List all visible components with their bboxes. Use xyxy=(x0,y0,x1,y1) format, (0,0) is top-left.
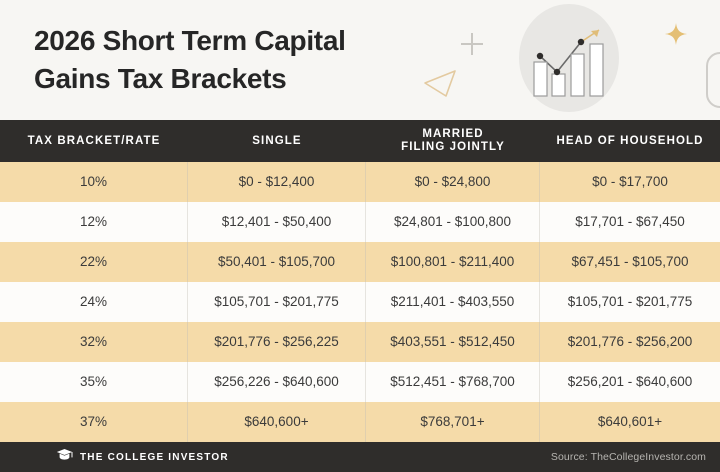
cell-rate: 32% xyxy=(0,322,188,362)
cell-married-filing-jointly: $512,451 - $768,700 xyxy=(366,362,540,402)
table-row: 37% $640,600+ $768,701+ $640,601+ xyxy=(0,402,720,442)
cell-single: $12,401 - $50,400 xyxy=(188,202,366,242)
cell-married-filing-jointly: $211,401 - $403,550 xyxy=(366,282,540,322)
column-header-rate: TAX BRACKET/RATE xyxy=(0,135,188,148)
cell-single: $640,600+ xyxy=(188,402,366,442)
cell-rate: 12% xyxy=(0,202,188,242)
cell-married-filing-jointly: $0 - $24,800 xyxy=(366,162,540,202)
brand-name: THE COLLEGE INVESTOR xyxy=(80,452,229,463)
cell-married-filing-jointly: $768,701+ xyxy=(366,402,540,442)
infographic-root: 2026 Short Term Capital Gains Tax Bracke… xyxy=(0,0,720,472)
header-band: 2026 Short Term Capital Gains Tax Bracke… xyxy=(0,0,720,120)
source-attribution: Source: TheCollegeInvestor.com xyxy=(551,451,706,463)
table-row: 35% $256,226 - $640,600 $512,451 - $768,… xyxy=(0,362,720,402)
plus-gold-icon xyxy=(664,22,688,46)
table-header-row: TAX BRACKET/RATE SINGLE MARRIED FILING J… xyxy=(0,120,720,162)
cell-married-filing-jointly: $24,801 - $100,800 xyxy=(366,202,540,242)
cell-single: $0 - $12,400 xyxy=(188,162,366,202)
page-title: 2026 Short Term Capital Gains Tax Bracke… xyxy=(34,22,444,98)
column-header-head-of-household: HEAD OF HOUSEHOLD xyxy=(540,135,720,148)
table-row: 24% $105,701 - $201,775 $211,401 - $403,… xyxy=(0,282,720,322)
bar-chart-icon xyxy=(519,4,619,112)
rounded-rect-icon xyxy=(706,52,720,108)
cell-rate: 35% xyxy=(0,362,188,402)
graduation-cap-icon xyxy=(56,448,73,466)
column-header-married-filing-jointly: MARRIED FILING JOINTLY xyxy=(366,128,540,154)
cell-head-of-household: $0 - $17,700 xyxy=(540,162,720,202)
cell-single: $201,776 - $256,225 xyxy=(188,322,366,362)
brand-logo: THE COLLEGE INVESTOR xyxy=(56,448,229,466)
cell-single: $105,701 - $201,775 xyxy=(188,282,366,322)
table-body: 10% $0 - $12,400 $0 - $24,800 $0 - $17,7… xyxy=(0,162,720,442)
cell-rate: 24% xyxy=(0,282,188,322)
cell-head-of-household: $256,201 - $640,600 xyxy=(540,362,720,402)
cell-rate: 10% xyxy=(0,162,188,202)
page-title-line-1: 2026 Short Term Capital xyxy=(34,22,444,60)
column-header-hoh-label: HEAD OF HOUSEHOLD xyxy=(556,135,703,147)
cell-head-of-household: $67,451 - $105,700 xyxy=(540,242,720,282)
footer-bar: THE COLLEGE INVESTOR Source: TheCollegeI… xyxy=(0,442,720,472)
cell-head-of-household: $640,601+ xyxy=(540,402,720,442)
column-header-single: SINGLE xyxy=(188,135,366,148)
cell-head-of-household: $201,776 - $256,200 xyxy=(540,322,720,362)
tax-bracket-table: TAX BRACKET/RATE SINGLE MARRIED FILING J… xyxy=(0,120,720,442)
cell-head-of-household: $105,701 - $201,775 xyxy=(540,282,720,322)
column-header-mfj-label-line-1: MARRIED xyxy=(370,128,536,141)
cell-single: $50,401 - $105,700 xyxy=(188,242,366,282)
table-row: 12% $12,401 - $50,400 $24,801 - $100,800… xyxy=(0,202,720,242)
column-header-mfj-label-line-2: FILING JOINTLY xyxy=(370,141,536,154)
cell-married-filing-jointly: $100,801 - $211,400 xyxy=(366,242,540,282)
cell-rate: 37% xyxy=(0,402,188,442)
table-row: 22% $50,401 - $105,700 $100,801 - $211,4… xyxy=(0,242,720,282)
triangle-gold-icon xyxy=(422,66,460,100)
cell-married-filing-jointly: $403,551 - $512,450 xyxy=(366,322,540,362)
page-title-line-2: Gains Tax Brackets xyxy=(34,60,444,98)
column-header-single-label: SINGLE xyxy=(252,135,301,147)
cell-rate: 22% xyxy=(0,242,188,282)
cell-single: $256,226 - $640,600 xyxy=(188,362,366,402)
table-row: 10% $0 - $12,400 $0 - $24,800 $0 - $17,7… xyxy=(0,162,720,202)
plus-grey-icon xyxy=(461,33,483,55)
column-header-rate-label: TAX BRACKET/RATE xyxy=(28,135,161,147)
table-row: 32% $201,776 - $256,225 $403,551 - $512,… xyxy=(0,322,720,362)
cell-head-of-household: $17,701 - $67,450 xyxy=(540,202,720,242)
